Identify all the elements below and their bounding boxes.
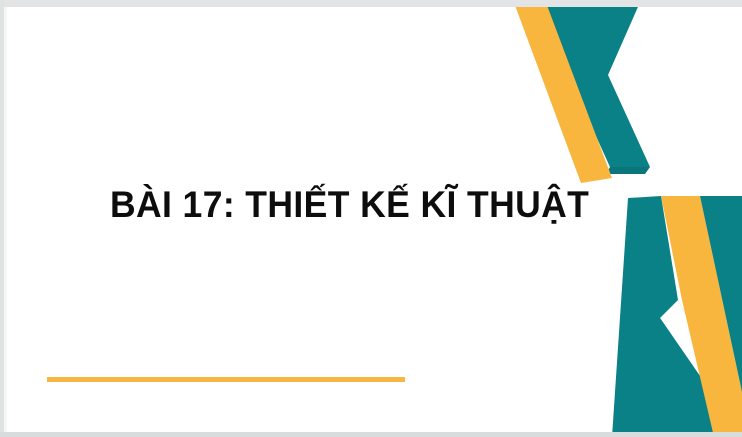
title-underline — [47, 377, 405, 382]
slide-canvas: BÀI 17: THIẾT KẾ KĨ THUẬT — [0, 0, 742, 437]
top-chevron-teal-shadow — [606, 167, 650, 174]
decorative-chevrons — [0, 0, 742, 437]
frame-edge-top — [0, 0, 742, 7]
frame-edge-bottom — [0, 432, 742, 437]
frame-edge-inner-left — [4, 7, 7, 432]
